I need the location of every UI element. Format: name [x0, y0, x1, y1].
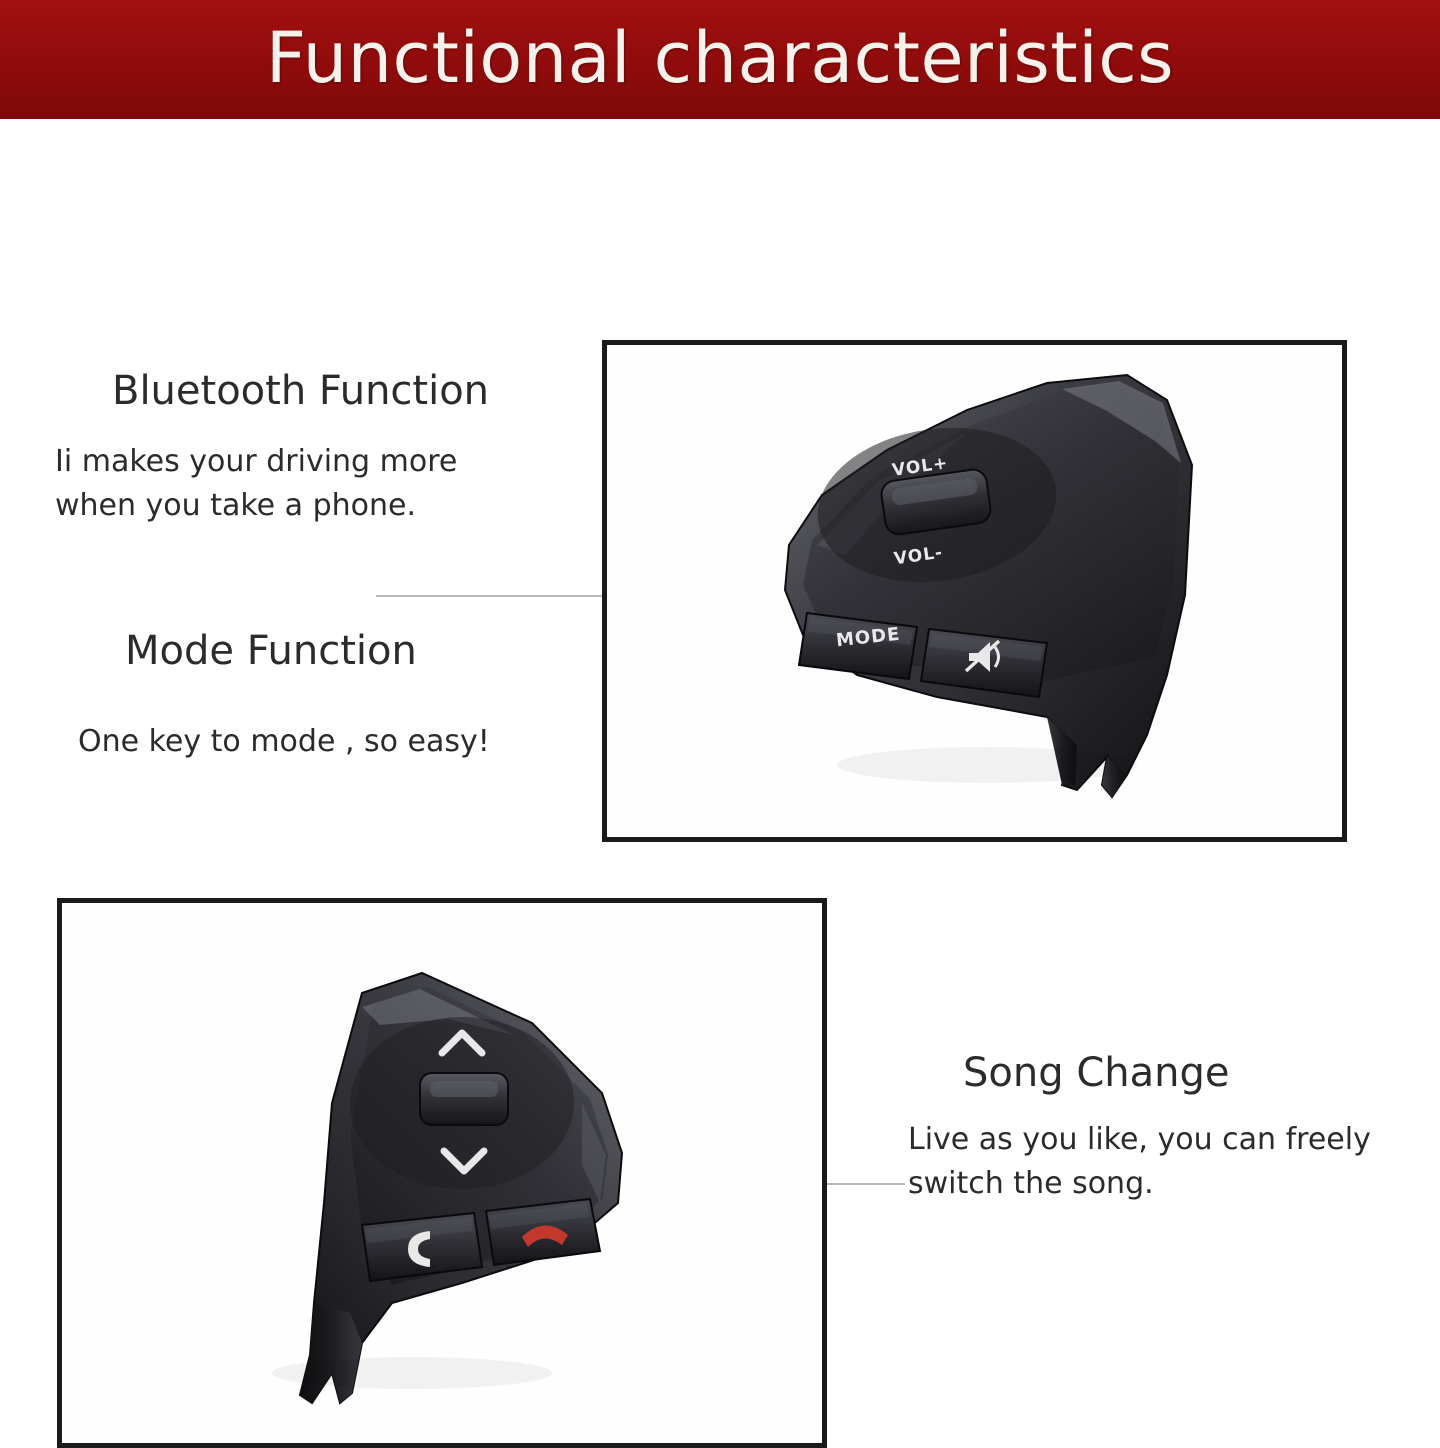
page-title: Functional characteristics	[266, 23, 1174, 93]
bluetooth-function-heading: Bluetooth Function	[112, 368, 489, 414]
photo-frame-right-switch: VOL+ VOL- MODE	[602, 340, 1347, 842]
song-change-heading: Song Change	[963, 1050, 1229, 1096]
mode-function-description: One key to mode , so easy!	[78, 720, 558, 764]
page-header-banner: Functional characteristics	[0, 0, 1440, 119]
song-change-description: Live as you like, you can freely switch …	[908, 1118, 1408, 1205]
bluetooth-function-description: Ii makes your driving more when you take…	[55, 440, 525, 527]
left-switch-illustration	[62, 903, 812, 1433]
photo-frame-left-switch	[57, 898, 827, 1448]
mode-function-heading: Mode Function	[125, 628, 417, 674]
right-switch-illustration	[607, 345, 1332, 827]
